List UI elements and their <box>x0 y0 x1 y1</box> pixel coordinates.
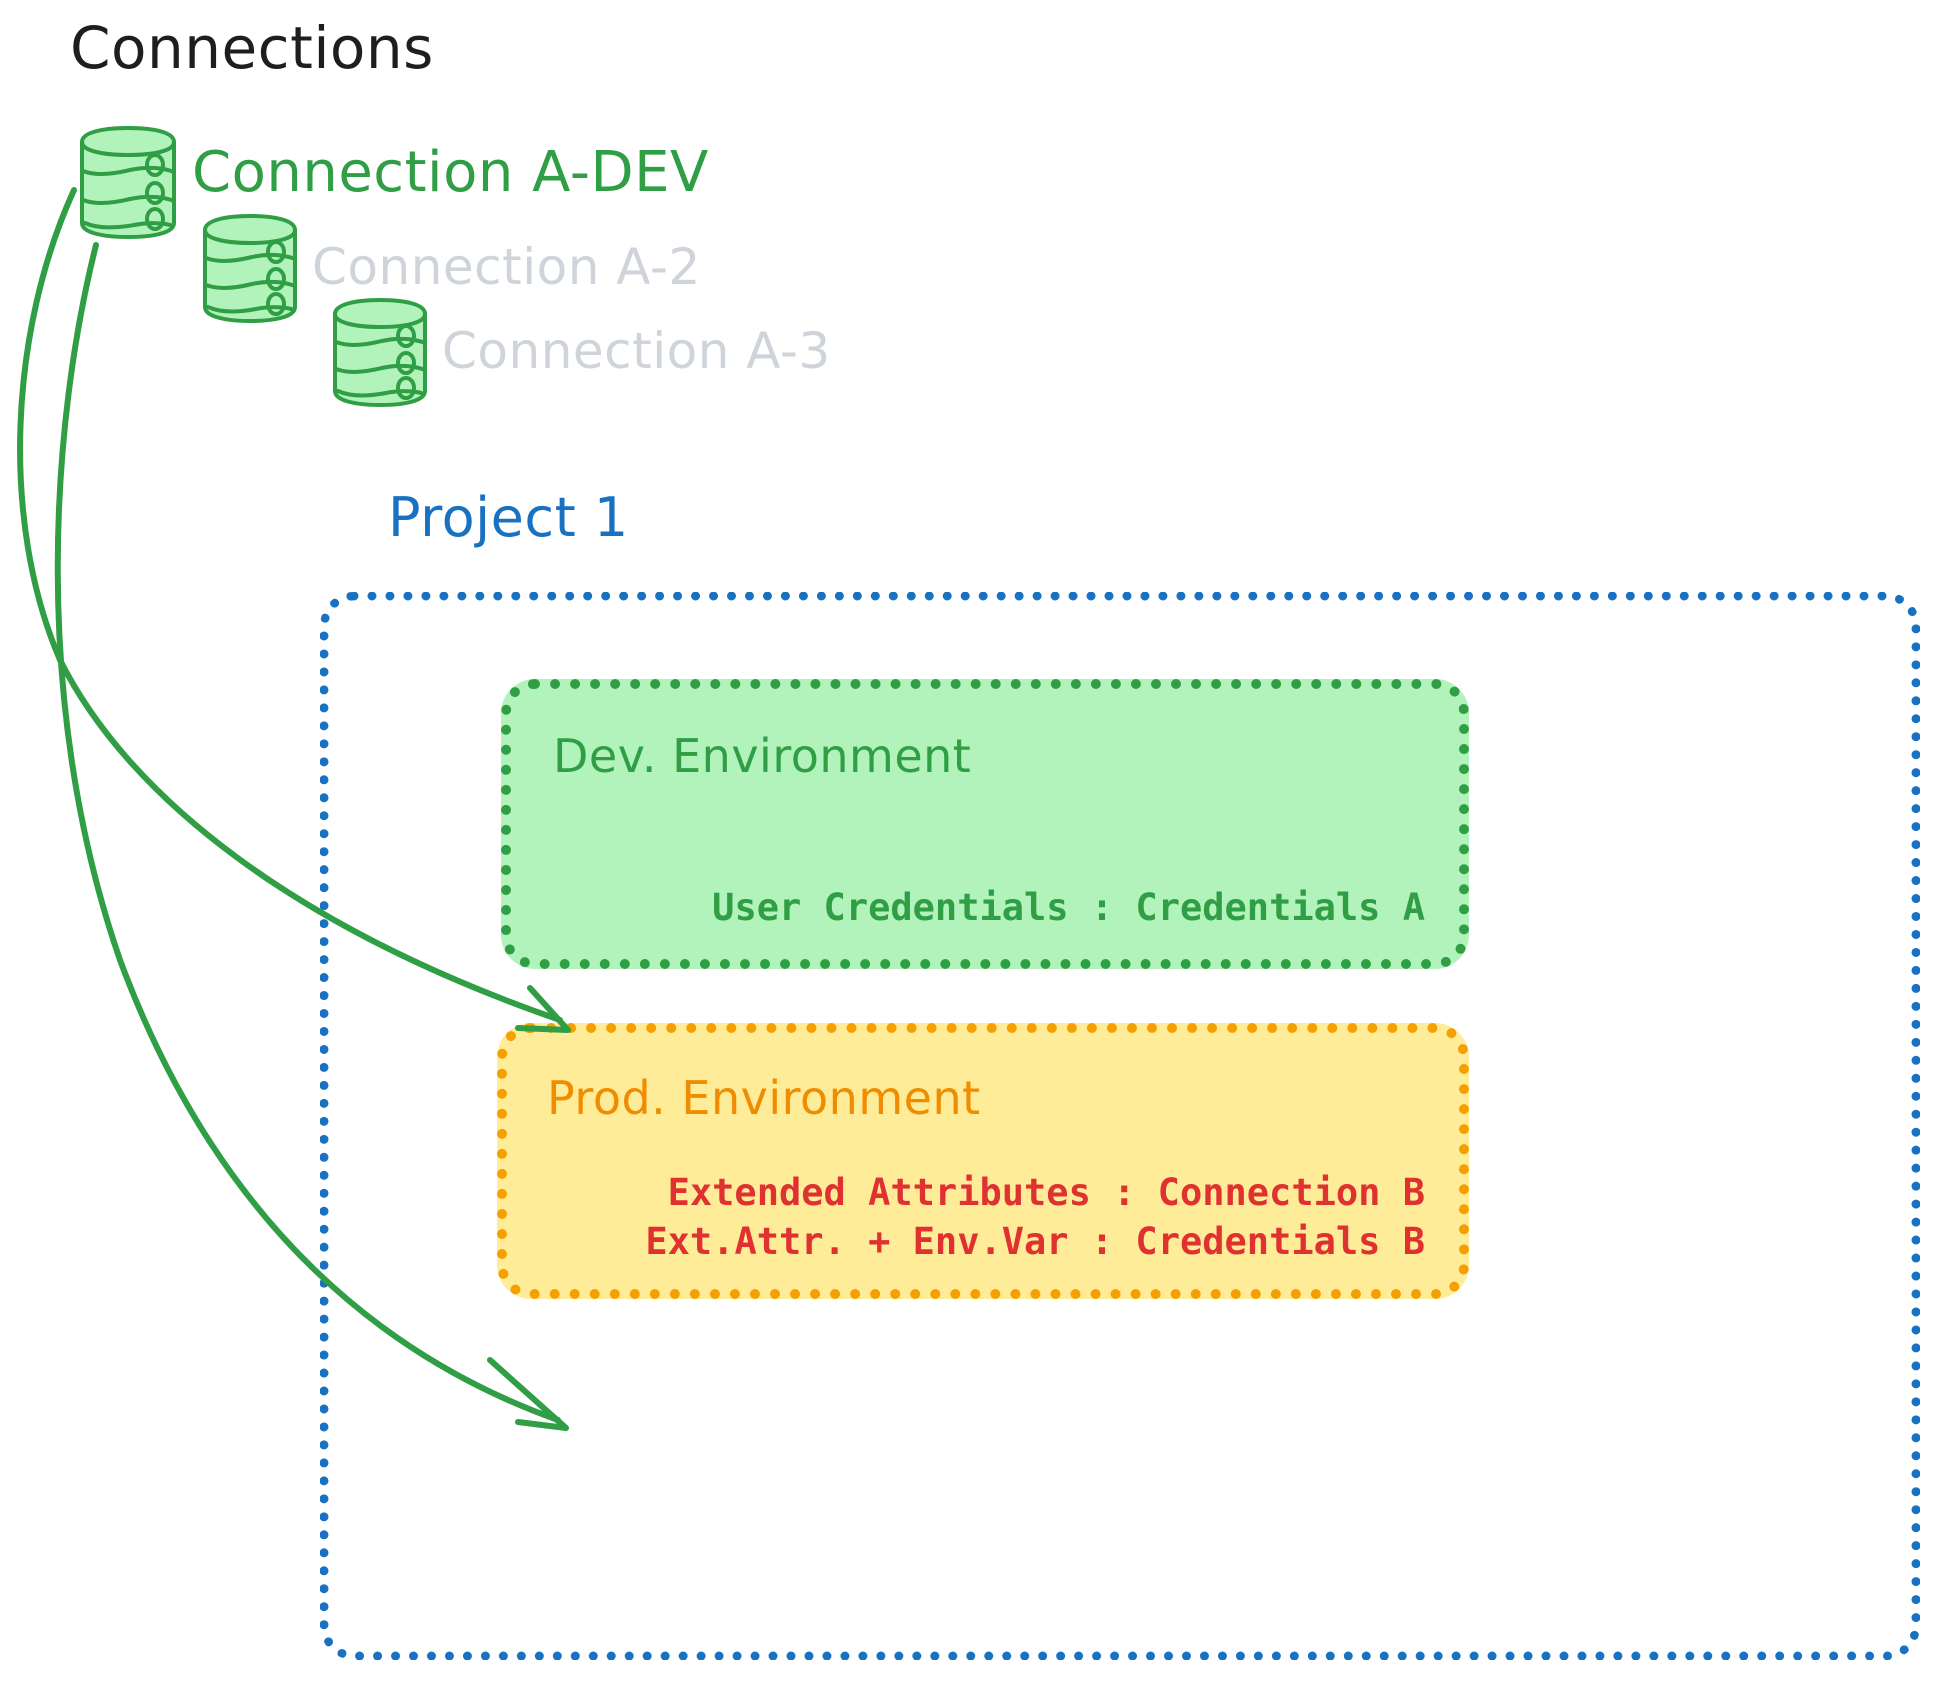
prod-environment-details: Extended Attributes : Connection B Ext.A… <box>645 1169 1425 1267</box>
prod-environment-title: Prod. Environment <box>547 1071 981 1125</box>
project-container: Dev. Environment User Credentials : Cred… <box>320 592 1920 1660</box>
connection-label-a-dev: Connection A-DEV <box>192 140 709 205</box>
connection-label-a-3: Connection A-3 <box>442 322 831 380</box>
dev-detail-line: User Credentials : Credentials A <box>712 884 1425 933</box>
prod-detail-line: Ext.Attr. + Env.Var : Credentials B <box>645 1218 1425 1267</box>
prod-detail-line: Extended Attributes : Connection B <box>645 1169 1425 1218</box>
page-title: Connections <box>70 14 434 82</box>
dev-environment-details: User Credentials : Credentials A <box>712 884 1425 933</box>
database-icon[interactable] <box>74 124 182 240</box>
database-icon[interactable] <box>198 212 302 324</box>
dev-environment-box[interactable]: Dev. Environment User Credentials : Cred… <box>501 679 1469 969</box>
connection-label-a-2: Connection A-2 <box>312 238 701 296</box>
prod-environment-box[interactable]: Prod. Environment Extended Attributes : … <box>497 1023 1469 1299</box>
database-icon[interactable] <box>328 296 432 408</box>
project-title: Project 1 <box>388 486 629 549</box>
diagram-canvas: Connections <box>0 0 1938 1691</box>
dev-environment-title: Dev. Environment <box>553 729 971 783</box>
